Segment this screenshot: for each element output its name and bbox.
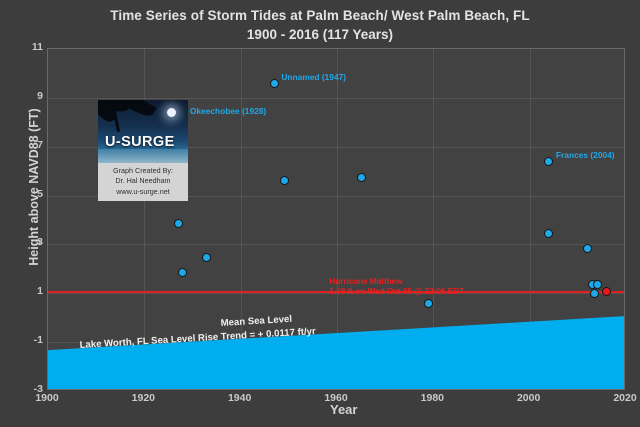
moon-icon [167,108,176,117]
y-tick-label: -1 [3,334,43,346]
data-point-label: Okeechobee (1928) [190,106,266,116]
credit-line-3: www.u-surge.net [98,187,188,197]
logo-credit-block: Graph Created By: Dr. Hal Needham www.u-… [98,163,188,201]
data-point[interactable] [593,280,602,289]
y-tick-label: 7 [3,139,43,151]
matthew-annotation-detail: 1.08 ft on Wed Oct 05 @ 22:06 EDT [329,287,464,296]
data-point[interactable] [583,244,592,253]
x-tick-label: 1980 [402,392,462,404]
x-tick-label: 2020 [595,392,640,404]
y-axis-tick-labels: -3-11357911 [0,48,43,390]
x-tick-label: 2000 [499,392,559,404]
data-point[interactable] [424,299,433,308]
x-axis-tick-labels: 1900192019401960198020002020 [47,392,625,408]
scatter-plot-area: Mean Sea LevelLake Worth, FL Sea Level R… [47,48,625,390]
data-point[interactable] [357,173,366,182]
logo-brand-text: U-SURGE [105,134,175,150]
data-point[interactable] [590,289,599,298]
data-point[interactable] [270,79,279,88]
page-title: Time Series of Storm Tides at Palm Beach… [0,8,640,23]
data-point[interactable] [280,176,289,185]
y-tick-label: 3 [3,236,43,248]
x-tick-label: 1940 [210,392,270,404]
x-tick-label: 1960 [306,392,366,404]
data-point-label: Unnamed (1947) [281,72,346,82]
credit-line-2: Dr. Hal Needham [98,176,188,186]
y-tick-label: 11 [3,41,43,53]
logo-night-beach-image: U-SURGE [98,100,188,163]
y-tick-label: 9 [3,90,43,102]
matthew-annotation-title: Hurricane Matthew [329,277,402,286]
credit-line-1: Graph Created By: [98,166,188,176]
x-tick-label: 1920 [113,392,173,404]
x-tick-label: 1900 [17,392,77,404]
y-tick-label: 5 [3,188,43,200]
usurge-logo: U-SURGE Graph Created By: Dr. Hal Needha… [98,100,188,197]
ocean-icon [98,149,188,163]
data-point[interactable] [174,219,183,228]
data-point[interactable] [602,287,611,296]
y-tick-label: 1 [3,285,43,297]
page-subtitle: 1900 - 2016 (117 Years) [0,27,640,42]
data-point-label: Frances (2004) [556,150,615,160]
